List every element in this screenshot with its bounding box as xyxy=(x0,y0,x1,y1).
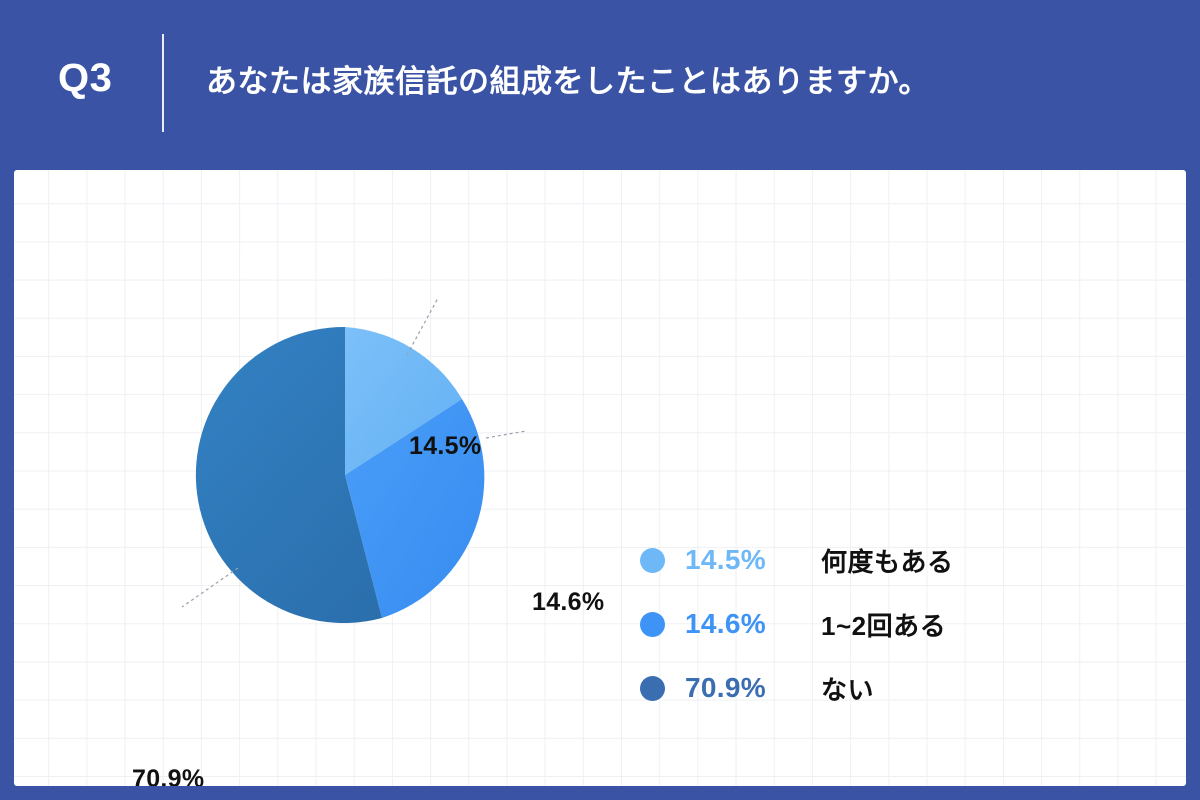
legend-item[interactable]: 14.6% 1~2回ある xyxy=(640,592,1060,656)
legend-item[interactable]: 70.9% ない xyxy=(640,656,1060,720)
legend-percent: 14.5% xyxy=(685,544,803,576)
slide-header: Q3 あなたは家族信託の組成をしたことはありますか。 xyxy=(0,0,1200,170)
legend-percent: 14.6% xyxy=(685,608,803,640)
leader-line-2 xyxy=(182,568,238,607)
leader-line-0 xyxy=(407,298,438,355)
legend-percent: 70.9% xyxy=(685,672,803,704)
question-title: あなたは家族信託の組成をしたことはありますか。 xyxy=(206,63,930,100)
question-number: Q3 xyxy=(58,58,112,98)
legend-label: 何度もある xyxy=(821,542,954,579)
legend-color-dot xyxy=(640,676,665,701)
slide-root: Q3 あなたは家族信託の組成をしたことはありますか。 xyxy=(0,0,1200,800)
header-divider xyxy=(162,34,164,132)
legend-item[interactable]: 14.5% 何度もある xyxy=(640,528,1060,592)
pie-callout-label: 70.9% xyxy=(132,765,204,786)
leader-line-1 xyxy=(486,431,526,438)
chart-card: 14.5% 14.6% 70.9% 14.5% 何度もある 14.6% 1~2回… xyxy=(14,170,1186,786)
chart-legend: 14.5% 何度もある 14.6% 1~2回ある 70.9% ない xyxy=(640,528,1060,720)
legend-color-dot xyxy=(640,548,665,573)
pie-callout-label: 14.6% xyxy=(532,588,604,617)
legend-color-dot xyxy=(640,612,665,637)
legend-label: 1~2回ある xyxy=(821,606,946,643)
legend-label: ない xyxy=(821,670,874,707)
pie-callout-label: 14.5% xyxy=(409,432,481,461)
